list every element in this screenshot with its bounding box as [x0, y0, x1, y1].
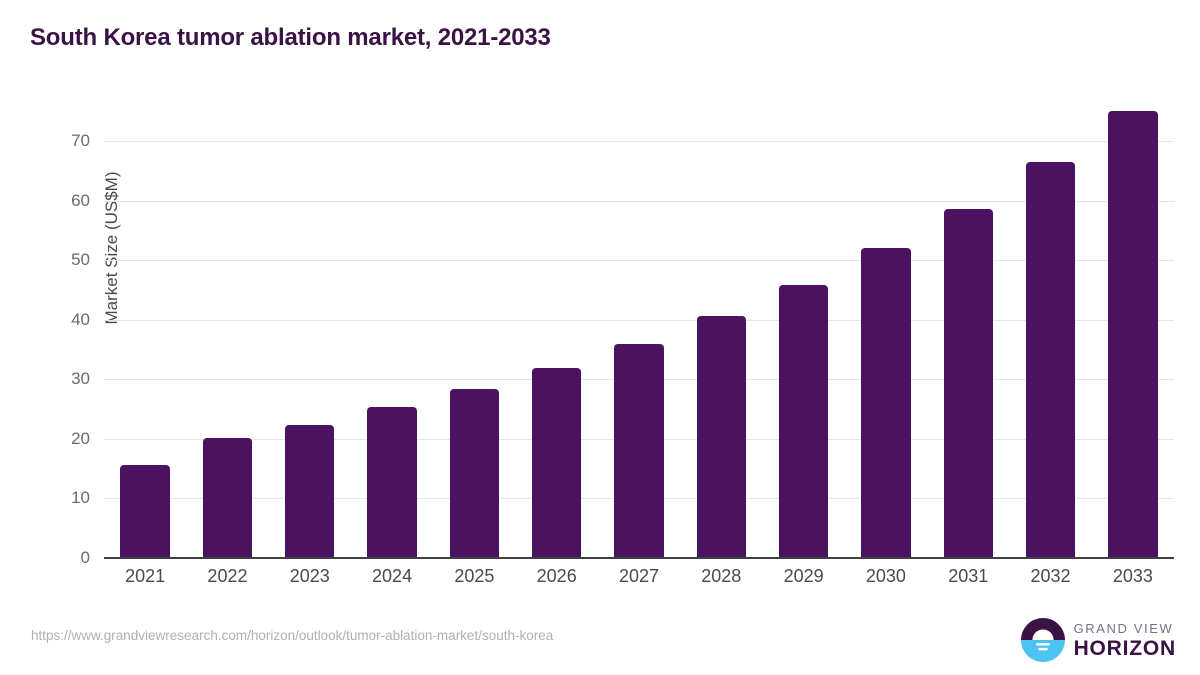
x-tick-label: 2025: [454, 566, 494, 587]
y-tick-label: 60: [46, 191, 90, 211]
bar[interactable]: [697, 316, 746, 558]
bar[interactable]: [367, 407, 416, 558]
bar[interactable]: [285, 425, 334, 558]
brand-top-text: GRAND VIEW: [1074, 622, 1176, 635]
x-tick-label: 2026: [537, 566, 577, 587]
bar[interactable]: [614, 344, 663, 558]
bar[interactable]: [1108, 111, 1157, 558]
x-tick-label: 2032: [1031, 566, 1071, 587]
bar[interactable]: [450, 389, 499, 558]
x-tick-label: 2027: [619, 566, 659, 587]
x-tick-label: 2033: [1113, 566, 1153, 587]
x-axis-tick-labels: 2021202220232024202520262027202820292030…: [104, 566, 1174, 596]
brand-wordmark: GRAND VIEW HORIZON: [1074, 622, 1176, 659]
bar[interactable]: [120, 465, 169, 558]
gridline: [104, 141, 1174, 142]
y-axis-tick-labels: 010203040506070: [40, 0, 90, 675]
horizon-circle-icon: [1021, 618, 1065, 662]
bar[interactable]: [532, 368, 581, 558]
x-tick-label: 2023: [290, 566, 330, 587]
y-tick-label: 10: [46, 488, 90, 508]
chart-card: South Korea tumor ablation market, 2021-…: [0, 0, 1200, 675]
gridline: [104, 201, 1174, 202]
x-tick-label: 2022: [207, 566, 247, 587]
brand-bottom-text: HORIZON: [1074, 638, 1176, 659]
source-url[interactable]: https://www.grandviewresearch.com/horizo…: [31, 628, 553, 643]
page-title: South Korea tumor ablation market, 2021-…: [30, 24, 551, 52]
plot-area: [104, 141, 1174, 558]
x-tick-label: 2031: [948, 566, 988, 587]
brand-logo[interactable]: GRAND VIEW HORIZON: [1021, 618, 1176, 662]
y-tick-label: 20: [46, 429, 90, 449]
bar[interactable]: [1026, 162, 1075, 558]
y-tick-label: 30: [46, 369, 90, 389]
x-tick-label: 2030: [866, 566, 906, 587]
bar[interactable]: [944, 209, 993, 558]
x-tick-label: 2021: [125, 566, 165, 587]
bar[interactable]: [779, 285, 828, 558]
x-tick-label: 2029: [784, 566, 824, 587]
y-tick-label: 70: [46, 131, 90, 151]
gridline: [104, 320, 1174, 321]
bar[interactable]: [203, 438, 252, 558]
x-tick-label: 2028: [701, 566, 741, 587]
x-axis-baseline: [104, 557, 1174, 559]
y-tick-label: 0: [46, 548, 90, 568]
gridline: [104, 260, 1174, 261]
y-tick-label: 50: [46, 250, 90, 270]
y-tick-label: 40: [46, 310, 90, 330]
bar[interactable]: [861, 248, 910, 558]
x-tick-label: 2024: [372, 566, 412, 587]
